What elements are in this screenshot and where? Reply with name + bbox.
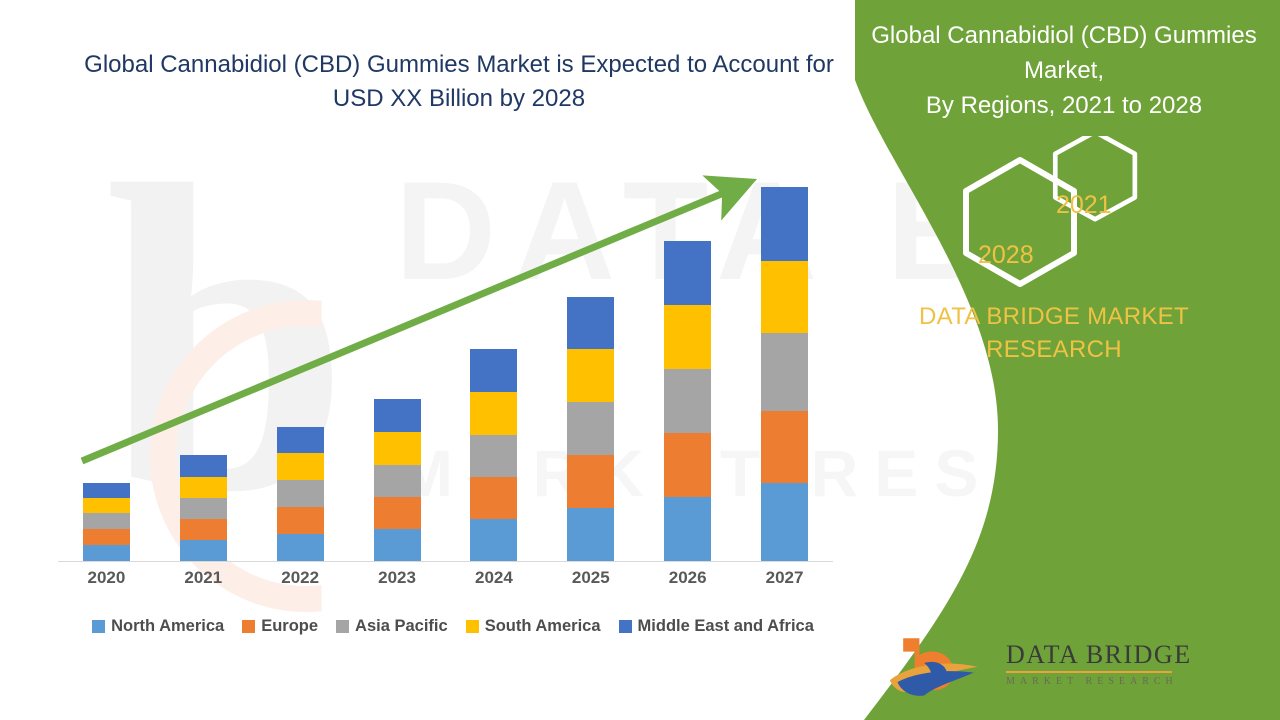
bar-segment[interactable] — [761, 187, 808, 261]
x-axis-tick-label: 2026 — [639, 568, 736, 588]
bar-segment[interactable] — [180, 519, 227, 540]
stacked-bar[interactable] — [374, 399, 421, 561]
chart-title-line-1: Global Cannabidiol (CBD) Gummies Market … — [64, 48, 854, 82]
bar-segment[interactable] — [83, 529, 130, 545]
chart-title: Global Cannabidiol (CBD) Gummies Market … — [64, 48, 854, 116]
brand-line-2: RESEARCH — [854, 333, 1254, 366]
x-axis-tick-label: 2022 — [252, 568, 349, 588]
bar-slot — [736, 161, 833, 561]
legend-label: Middle East and Africa — [638, 617, 814, 636]
stacked-bar[interactable] — [83, 483, 130, 561]
stacked-bar[interactable] — [664, 241, 711, 561]
bar-segment[interactable] — [664, 433, 711, 497]
stacked-bar[interactable] — [277, 427, 324, 561]
bar-segment[interactable] — [664, 305, 711, 369]
panel-title-line-2: Market, — [864, 53, 1264, 88]
bar-slot — [58, 161, 155, 561]
legend-swatch — [242, 620, 255, 633]
panel-title: Global Cannabidiol (CBD) Gummies Market,… — [864, 18, 1264, 123]
bar-segment[interactable] — [470, 392, 517, 435]
x-axis-tick-label: 2023 — [349, 568, 446, 588]
legend-item[interactable]: North America — [92, 617, 224, 636]
x-axis-tick-label: 2027 — [736, 568, 833, 588]
legend-swatch — [336, 620, 349, 633]
bar-segment[interactable] — [567, 455, 614, 508]
bar-chart-plot-area — [58, 150, 833, 562]
bar-slot — [349, 161, 446, 561]
bar-segment[interactable] — [277, 453, 324, 480]
bar-segment[interactable] — [180, 540, 227, 561]
brand-line-1: DATA BRIDGE MARKET — [854, 300, 1254, 333]
bar-segment[interactable] — [664, 369, 711, 433]
bar-slot — [446, 161, 543, 561]
x-axis-line — [58, 561, 833, 562]
legend-label: North America — [111, 617, 224, 636]
bar-group — [58, 161, 833, 561]
bar-segment[interactable] — [470, 477, 517, 519]
bar-segment[interactable] — [374, 432, 421, 465]
bar-segment[interactable] — [374, 465, 421, 497]
x-axis-tick-label: 2024 — [446, 568, 543, 588]
bar-segment[interactable] — [277, 507, 324, 534]
bar-segment[interactable] — [180, 498, 227, 519]
chart-legend: North AmericaEuropeAsia PacificSouth Ame… — [58, 617, 848, 636]
bar-segment[interactable] — [567, 349, 614, 402]
logo-tagline: MARKET RESEARCH — [1006, 676, 1192, 687]
databridge-logo-mark-icon — [886, 630, 991, 698]
logo-divider — [1006, 671, 1172, 673]
bar-segment[interactable] — [470, 519, 517, 561]
legend-item[interactable]: Asia Pacific — [336, 617, 448, 636]
x-axis-tick-label: 2025 — [542, 568, 639, 588]
bar-segment[interactable] — [761, 483, 808, 561]
bar-segment[interactable] — [180, 477, 227, 498]
hex-year-2028: 2028 — [978, 241, 1034, 270]
bar-slot — [155, 161, 252, 561]
bar-segment[interactable] — [277, 534, 324, 561]
bar-segment[interactable] — [374, 497, 421, 529]
bar-segment[interactable] — [83, 513, 130, 529]
bar-segment[interactable] — [277, 480, 324, 507]
bar-slot — [252, 161, 349, 561]
year-hexagons: 2028 2021 — [948, 136, 1208, 291]
panel-title-line-3: By Regions, 2021 to 2028 — [864, 88, 1264, 123]
stacked-bar[interactable] — [470, 349, 517, 561]
x-axis-tick-label: 2021 — [155, 568, 252, 588]
hex-year-2021: 2021 — [1056, 191, 1112, 220]
legend-item[interactable]: South America — [466, 617, 601, 636]
brand-name: DATA BRIDGE MARKET RESEARCH — [854, 300, 1254, 366]
legend-swatch — [466, 620, 479, 633]
legend-label: South America — [485, 617, 601, 636]
x-axis-tick-label: 2020 — [58, 568, 155, 588]
bar-segment[interactable] — [374, 399, 421, 432]
stacked-bar[interactable] — [180, 455, 227, 561]
legend-item[interactable]: Middle East and Africa — [619, 617, 814, 636]
bar-segment[interactable] — [567, 402, 614, 455]
bar-segment[interactable] — [664, 241, 711, 305]
bar-segment[interactable] — [567, 297, 614, 349]
bar-segment[interactable] — [567, 508, 614, 561]
bar-segment[interactable] — [83, 498, 130, 513]
company-logo: DATA BRIDGE MARKET RESEARCH — [886, 630, 1126, 706]
bar-segment[interactable] — [374, 529, 421, 561]
bar-segment[interactable] — [761, 333, 808, 411]
chart-title-line-2: USD XX Billion by 2028 — [64, 82, 854, 116]
bar-segment[interactable] — [83, 545, 130, 561]
legend-item[interactable]: Europe — [242, 617, 318, 636]
bar-segment[interactable] — [180, 455, 227, 477]
legend-label: Asia Pacific — [355, 617, 448, 636]
bar-segment[interactable] — [664, 497, 711, 561]
panel-title-line-1: Global Cannabidiol (CBD) Gummies — [864, 18, 1264, 53]
x-axis-labels: 20202021202220232024202520262027 — [58, 568, 833, 588]
legend-swatch — [92, 620, 105, 633]
stacked-bar[interactable] — [761, 187, 808, 561]
bar-segment[interactable] — [761, 411, 808, 483]
legend-swatch — [619, 620, 632, 633]
logo-name: DATA BRIDGE — [1006, 640, 1192, 670]
logo-wordmark: DATA BRIDGE MARKET RESEARCH — [1006, 640, 1192, 687]
bar-segment[interactable] — [470, 435, 517, 477]
slide-canvas: b DATA BRIDGE MARKET RESEARCH Global Can… — [0, 0, 1280, 720]
right-green-panel: Global Cannabidiol (CBD) Gummies Market,… — [828, 0, 1280, 720]
bar-segment[interactable] — [761, 261, 808, 333]
legend-label: Europe — [261, 617, 318, 636]
bar-segment[interactable] — [470, 349, 517, 392]
bar-segment[interactable] — [83, 483, 130, 498]
bar-slot — [639, 161, 736, 561]
stacked-bar[interactable] — [567, 297, 614, 561]
bar-slot — [542, 161, 639, 561]
bar-segment[interactable] — [277, 427, 324, 453]
